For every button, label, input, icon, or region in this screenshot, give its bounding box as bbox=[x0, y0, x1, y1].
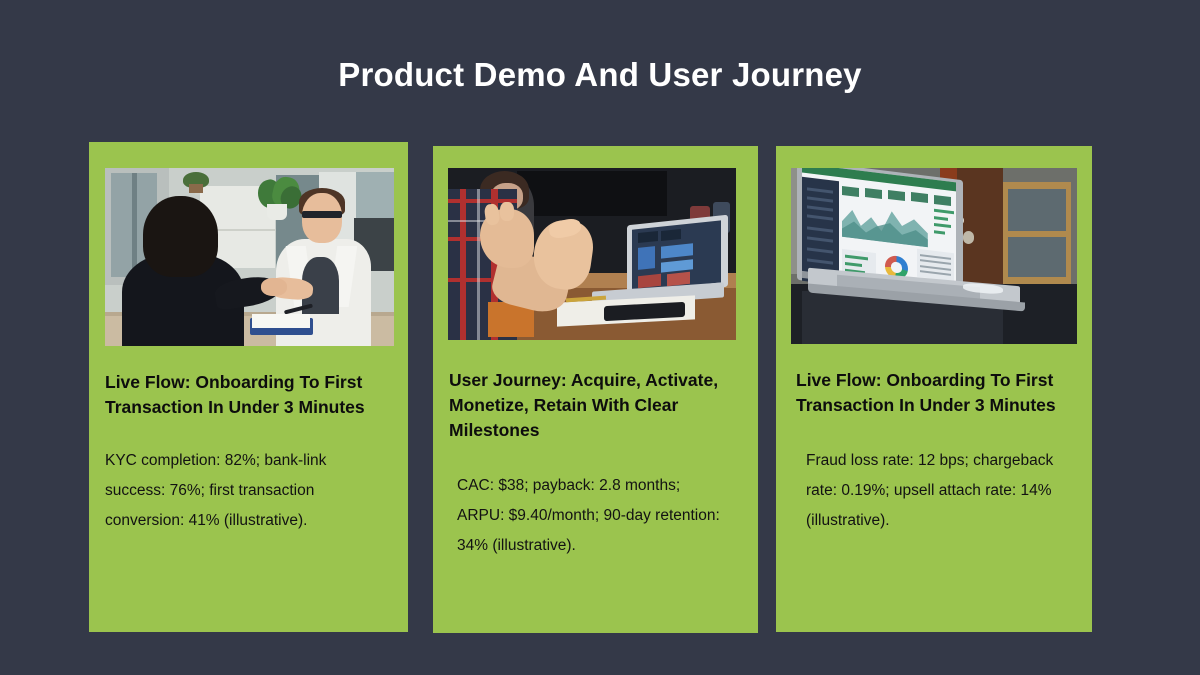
content-card-3[interactable]: Live Flow: Onboarding To First Transacti… bbox=[776, 146, 1092, 632]
kpi-tile-3 bbox=[888, 190, 905, 201]
card-3-body: Live Flow: Onboarding To First Transacti… bbox=[776, 368, 1092, 536]
screen-tile-1 bbox=[638, 231, 658, 243]
presentation-slide: Product Demo And User Journey bbox=[0, 0, 1200, 675]
card-2-heading: User Journey: Acquire, Activate, Monetiz… bbox=[449, 368, 742, 443]
content-card-1[interactable]: Live Flow: Onboarding To First Transacti… bbox=[89, 142, 408, 632]
plant-pot bbox=[267, 204, 287, 220]
card-2-text: CAC: $38; payback: 2.8 months; ARPU: $9.… bbox=[449, 471, 742, 562]
plaid-stripe-v1 bbox=[460, 189, 466, 340]
card-3-heading: Live Flow: Onboarding To First Transacti… bbox=[796, 368, 1078, 418]
screen-tile-3 bbox=[638, 246, 655, 270]
card-2-photo bbox=[448, 168, 736, 340]
screen-tile-2 bbox=[661, 229, 681, 241]
handshake-hands bbox=[261, 278, 287, 296]
shelf-divider bbox=[1008, 231, 1065, 236]
paper-sheet bbox=[252, 314, 310, 328]
screen-tile-6 bbox=[638, 273, 661, 287]
plant-pot-small bbox=[189, 184, 203, 193]
eyeglasses bbox=[302, 211, 342, 218]
card-1-body: Live Flow: Onboarding To First Transacti… bbox=[89, 370, 408, 536]
card-1-heading: Live Flow: Onboarding To First Transacti… bbox=[105, 370, 392, 420]
plaid-stripe-white-v bbox=[477, 189, 480, 340]
kpi-tile-4 bbox=[911, 192, 928, 203]
card-1-photo bbox=[105, 168, 394, 346]
content-card-2[interactable]: User Journey: Acquire, Activate, Monetiz… bbox=[433, 146, 758, 633]
person-left-hair bbox=[143, 196, 218, 276]
page-title: Product Demo And User Journey bbox=[0, 55, 1200, 95]
dark-display-board bbox=[517, 171, 667, 216]
door-knob bbox=[963, 231, 974, 243]
card-3-photo bbox=[791, 168, 1077, 344]
window-mullion bbox=[132, 173, 137, 276]
wooden-door bbox=[957, 168, 1003, 288]
card-1-text: KYC completion: 82%; bank-link success: … bbox=[105, 446, 392, 537]
card-3-text: Fraud loss rate: 12 bps; chargeback rate… bbox=[796, 446, 1078, 537]
finger-2 bbox=[500, 202, 514, 221]
card-2-body: User Journey: Acquire, Activate, Monetiz… bbox=[433, 368, 758, 561]
